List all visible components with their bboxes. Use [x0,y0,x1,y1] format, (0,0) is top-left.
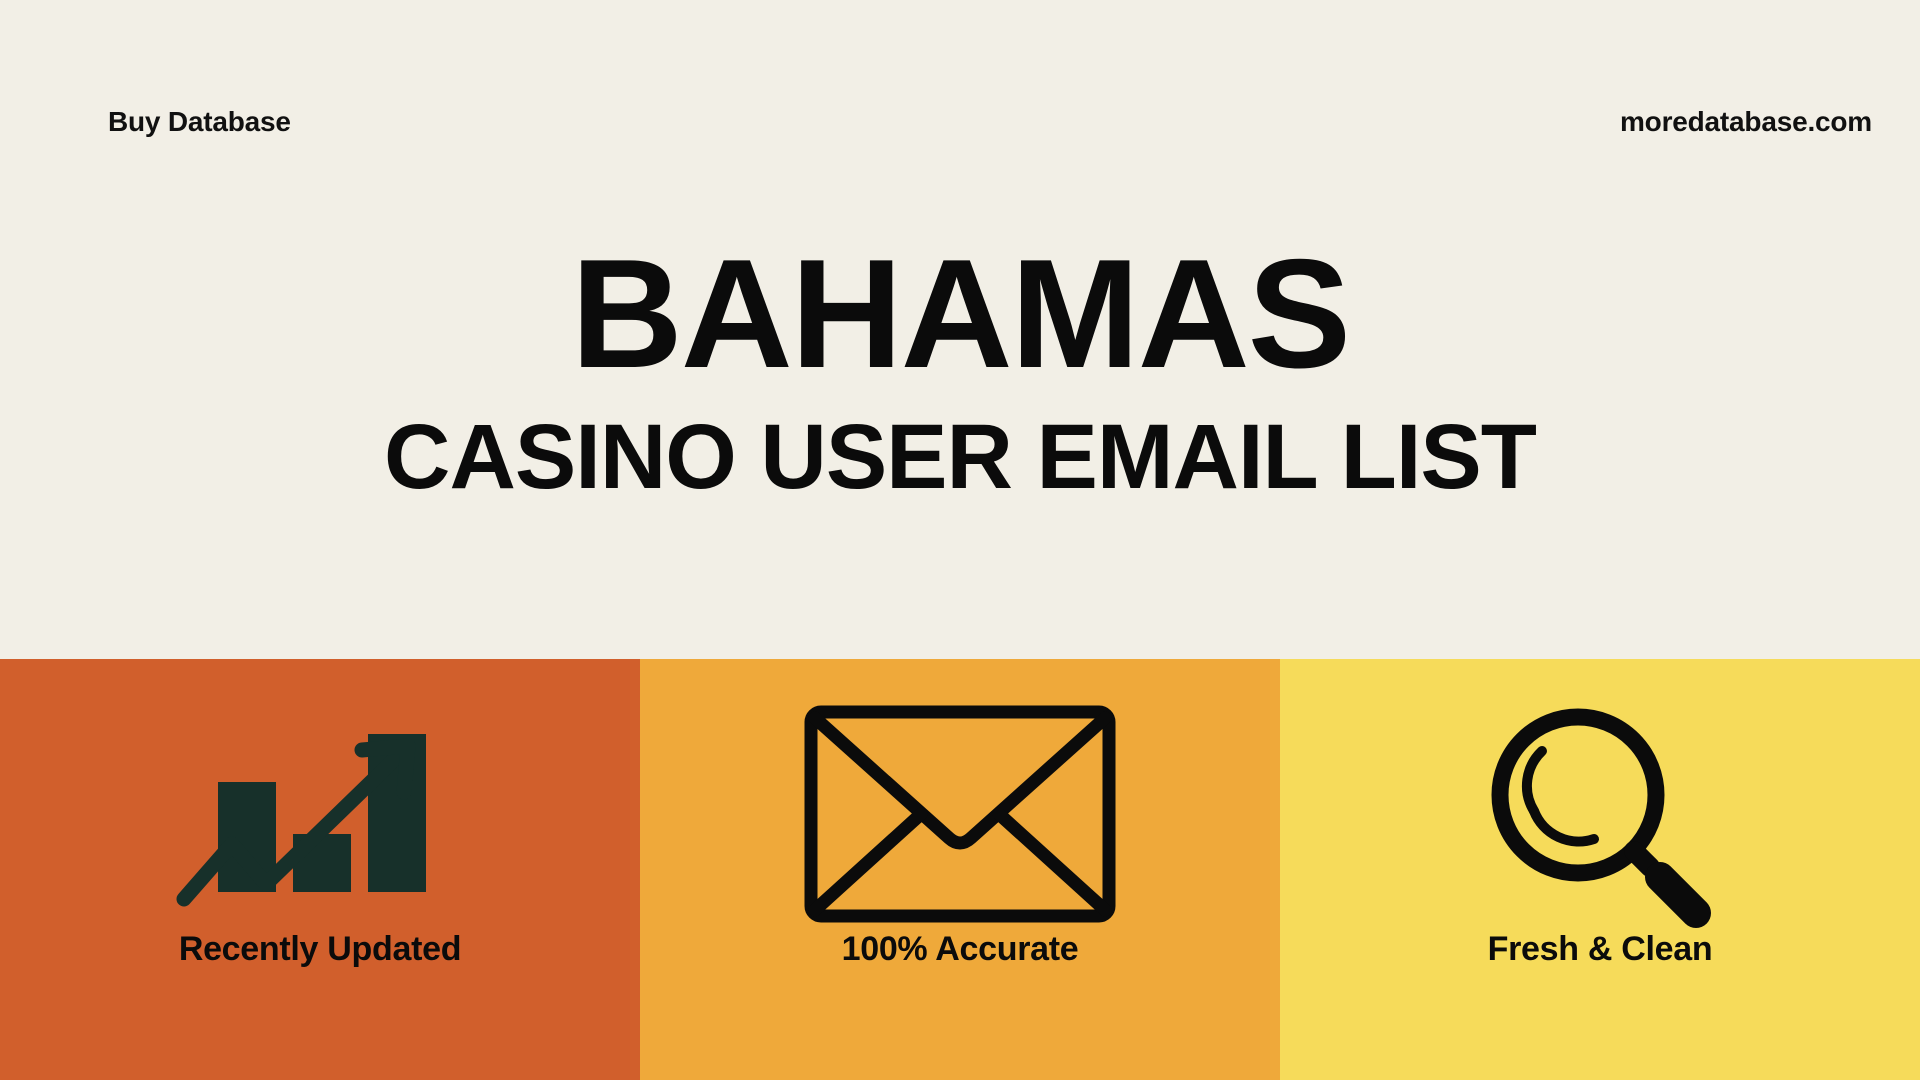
feature-accurate: 100% Accurate [640,659,1280,1080]
website-label: moredatabase.com [1620,108,1872,136]
feature-fresh-clean: Fresh & Clean [1280,659,1920,1080]
header-bar: Buy Database moredatabase.com [0,0,1920,200]
brand-label-left: Buy Database [108,108,291,136]
magnifier-icon [1482,701,1718,926]
envelope-icon [801,701,1119,926]
feature-label: Recently Updated [179,932,461,966]
page-subtitle: CASINO USER EMAIL LIST [384,411,1536,503]
hero-section: BAHAMAS CASINO USER EMAIL LIST [0,200,1920,659]
feature-recently-updated: Recently Updated [0,659,640,1080]
feature-label: 100% Accurate [842,932,1079,966]
feature-band: Recently Updated 100% Accurate [0,659,1920,1080]
bar-chart-growth-icon [170,701,470,926]
feature-label: Fresh & Clean [1488,932,1713,966]
poster-canvas: Buy Database moredatabase.com BAHAMAS CA… [0,0,1920,1080]
page-title: BAHAMAS [571,240,1349,389]
